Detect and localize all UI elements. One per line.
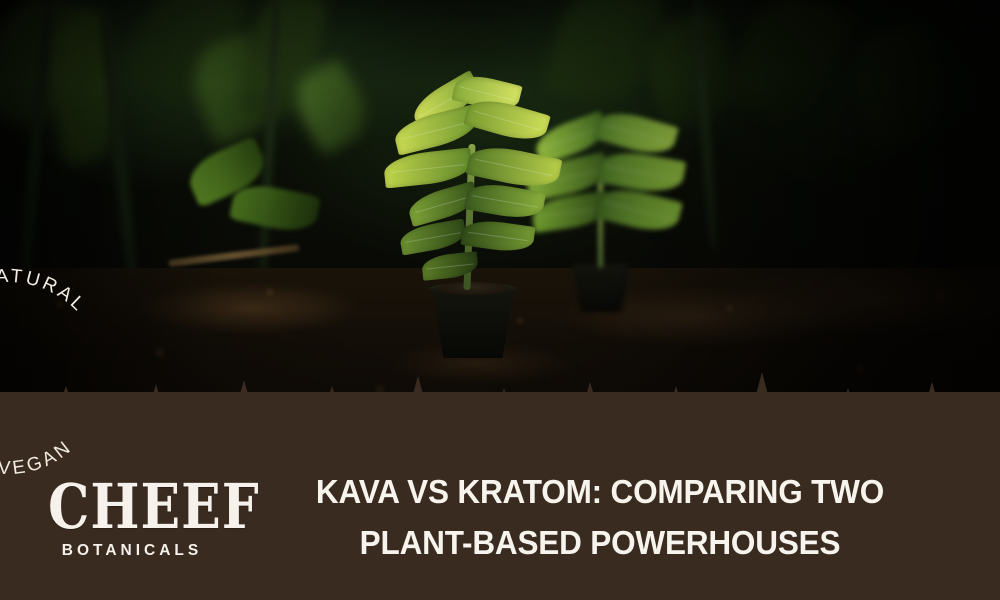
all-natural-vegan-badge: ALL NATURAL AL & VEGAN: [0, 252, 134, 504]
logo-subtext: BOTANICALS: [48, 542, 216, 560]
page-title: KAVA VS KRATOM: COMPARING TWO PLANT-BASE…: [247, 466, 954, 568]
logo-wordmark: CHEEF: [48, 476, 216, 540]
badge-text-top: ALL NATURAL: [0, 266, 90, 317]
cheef-botanicals-logo[interactable]: CHEEF BOTANICALS: [48, 476, 216, 564]
hero-banner: ALL NATURAL AL & VEGAN CHEEF BOTANICALS …: [0, 0, 1000, 600]
headline-line-1: KAVA VS KRATOM: COMPARING TWO: [316, 473, 884, 510]
headline-line-2: PLANT-BASED POWERHOUSES: [247, 517, 954, 568]
